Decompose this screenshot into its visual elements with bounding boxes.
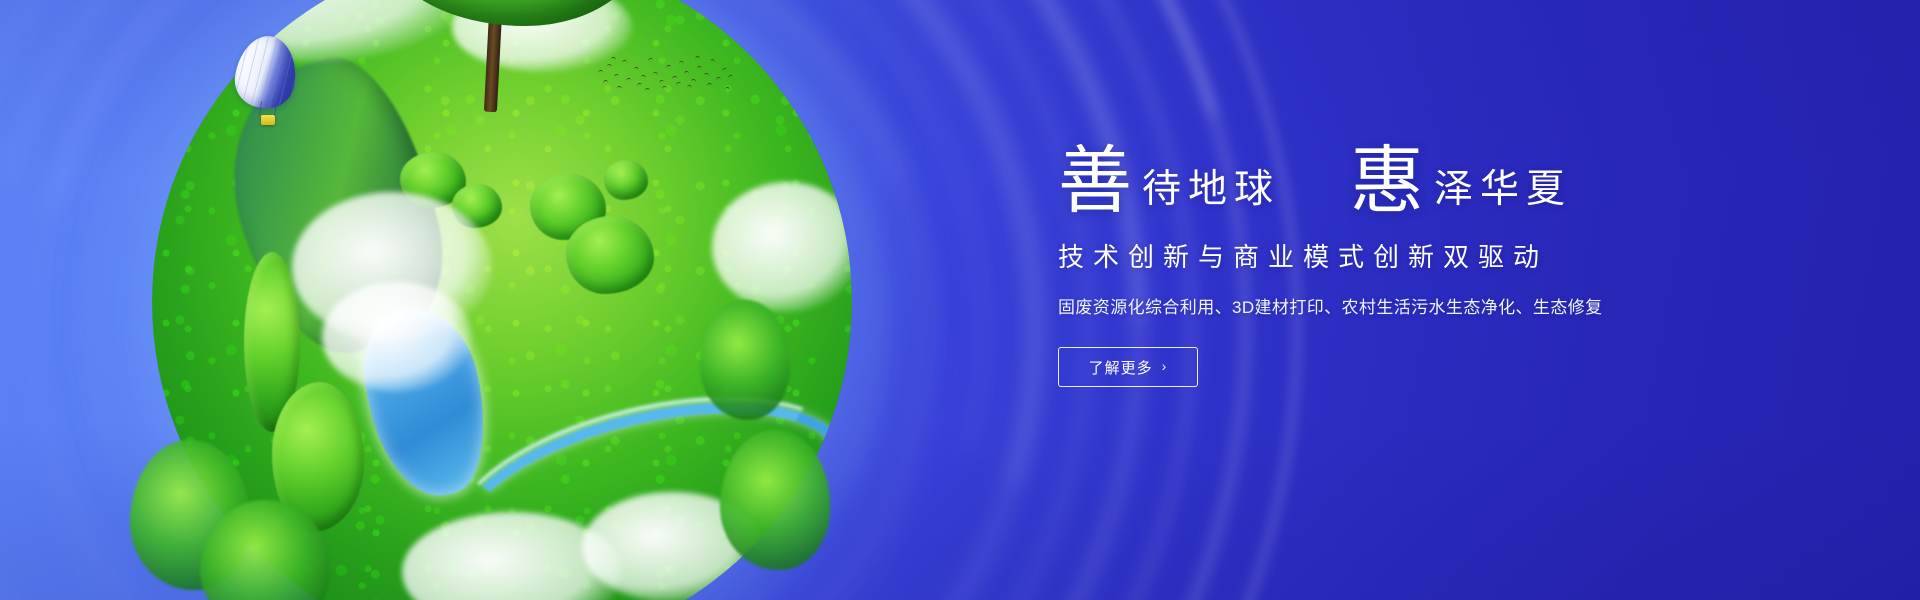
hero-subtitle: 技术创新与商业模式创新双驱动 [1058,242,1818,273]
headline-brush-char-2: 惠 [1350,144,1424,218]
hero-content: 善 待地球 惠 泽华夏 技术创新与商业模式创新双驱动 固废资源化综合利用、3D建… [1058,140,1818,387]
balloon-basket [261,115,275,125]
globe-bush [566,216,654,294]
bird-icon [607,63,613,67]
bird-icon [611,57,616,60]
bird-icon [617,86,622,90]
bird-icon [710,58,716,62]
learn-more-label: 了解更多 [1089,357,1153,378]
bird-icon [695,56,700,60]
globe-cloud [322,282,472,392]
headline-brush-char-1: 善 [1058,144,1132,218]
balloon-ribs [231,32,300,112]
bird-icon [614,73,620,77]
bird-icon [679,61,684,64]
bird-icon [645,88,650,91]
bird-icon [598,70,603,74]
bird-icon [725,87,730,90]
bird-icon [707,83,712,86]
bird-icon [672,76,677,80]
hero-description: 固废资源化综合利用、3D建材打印、农村生活污水生态净化、生态修复 [1058,297,1818,319]
hero-banner: 善 待地球 惠 泽华夏 技术创新与商业模式创新双驱动 固废资源化综合利用、3D建… [0,0,1920,600]
edge-tree [700,300,790,420]
bird-icon [722,67,728,71]
chevron-right-icon: › [1162,358,1168,374]
bird-icon [634,67,639,71]
bird-icon [716,76,722,81]
edge-tree [720,430,830,570]
bird-icon [728,74,734,78]
bird-icon [704,72,710,76]
bird-icon [622,60,627,63]
globe-cloud [712,182,852,312]
bird-icon [666,65,671,69]
learn-more-button[interactable]: 了解更多 › [1058,347,1198,387]
bird-icon [676,81,682,86]
hot-air-balloon [236,36,300,132]
hero-headline: 善 待地球 惠 泽华夏 [1058,140,1818,232]
bird-icon [659,79,665,83]
globe-bush [604,160,648,200]
bird-icon [662,86,667,89]
bird-icon [653,71,659,75]
headline-plain-2: 泽华夏 [1424,170,1572,209]
bird-icon [691,79,696,82]
bird-icon [603,80,608,84]
bird-icon [648,57,654,61]
bird-icon [626,78,631,82]
bird-icon [684,71,689,74]
bird-flock [596,52,736,100]
bird-icon [637,82,643,86]
bird-icon [641,74,647,78]
bird-icon [697,66,702,70]
headline-plain-1: 待地球 [1132,170,1280,209]
bird-icon [687,84,693,88]
